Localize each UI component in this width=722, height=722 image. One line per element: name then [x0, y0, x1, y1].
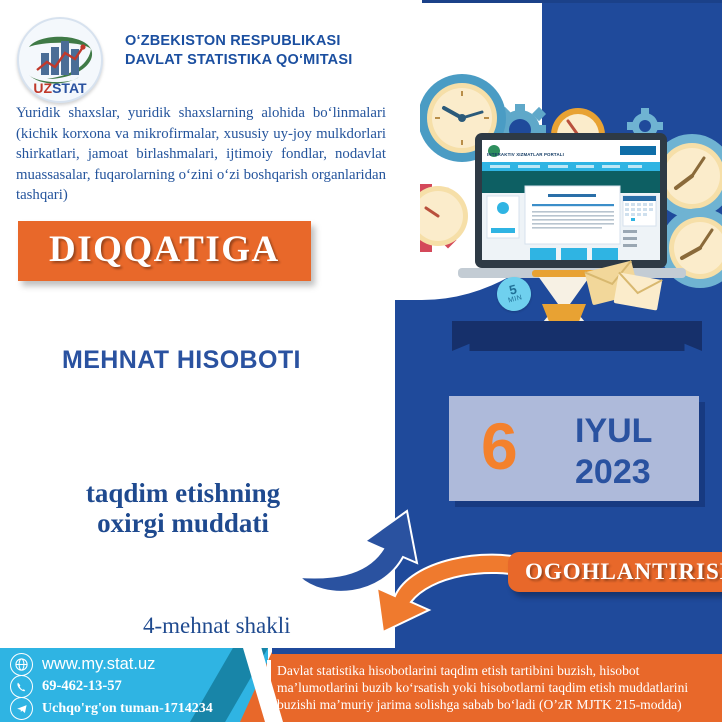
deadline-day: 6	[481, 410, 518, 482]
footer-website: www.my.stat.uz	[42, 655, 155, 674]
org-title-line2: DAVLAT STATISTIKA QO‘MITASI	[125, 51, 425, 70]
footer-address-row[interactable]: Uchqo'rg'on tuman-1714234	[10, 698, 265, 719]
deadline-year: 2023	[575, 452, 651, 492]
navy-ribbon-decoration	[452, 321, 702, 351]
footer-website-row[interactable]: www.my.stat.uz	[10, 654, 265, 675]
deadline-label-line1: taqdim etishning	[48, 478, 318, 508]
telegram-icon	[10, 697, 33, 720]
footer-blue-top-strip	[272, 648, 722, 654]
warning-badge-label: OGOHLANTIRISH	[525, 559, 722, 584]
top-edge-strip	[422, 0, 722, 3]
footer-contact-list: www.my.stat.uz 69-462-13-57 Uchqo'rg'on …	[10, 654, 265, 720]
warning-badge: OGOHLANTIRISH	[508, 552, 722, 592]
phone-icon	[10, 675, 33, 698]
poster-canvas: INTERAKTIV XIZMATLAR PORTALI 5 MIN UZSTA…	[0, 0, 722, 722]
warning-accent-bar	[267, 660, 271, 712]
deadline-date-box: 6 IYUL 2023	[449, 396, 699, 501]
organization-title: O‘ZBEKISTON RESPUBLIKASI DAVLAT STATISTI…	[125, 32, 425, 70]
intro-paragraph: Yuridik shaxslar, yuridik shaxslarning a…	[16, 103, 386, 206]
deadline-month: IYUL	[575, 411, 652, 451]
attention-banner-box: DIQQATIGA	[18, 221, 311, 281]
svg-text:UZSTAT: UZSTAT	[33, 80, 87, 96]
deadline-label-line2: oxirgi muddati	[48, 508, 318, 538]
footer-warning-text: Davlat statistika hisobotlarini taqdim e…	[277, 662, 709, 713]
org-title-line1: O‘ZBEKISTON RESPUBLIKASI	[125, 32, 425, 51]
attention-banner: DIQQATIGA	[18, 221, 311, 281]
deadline-label: taqdim etishning oxirgi muddati	[48, 478, 318, 538]
badge-unit: MIN	[507, 293, 523, 305]
uzstat-logo: UZSTAT	[17, 17, 103, 103]
footer-address: Uchqo'rg'on tuman-1714234	[42, 701, 213, 717]
footer-phone-row[interactable]: 69-462-13-57	[10, 676, 265, 697]
footer-phone: 69-462-13-57	[42, 678, 122, 695]
report-title: MEHNAT HISOBOTI	[62, 346, 301, 375]
orange-curved-arrow	[355, 540, 535, 640]
footer: www.my.stat.uz 69-462-13-57 Uchqo'rg'on …	[0, 648, 722, 722]
globe-icon	[10, 653, 33, 676]
clock-icon-left-lower	[420, 186, 468, 246]
portal-screen-title: INTERAKTIV XIZMATLAR PORTALI	[487, 152, 564, 157]
attention-banner-label: DIQQATIGA	[49, 229, 280, 271]
hero-illustration	[420, 8, 722, 328]
form-label: 4-mehnat shakli	[143, 613, 291, 639]
